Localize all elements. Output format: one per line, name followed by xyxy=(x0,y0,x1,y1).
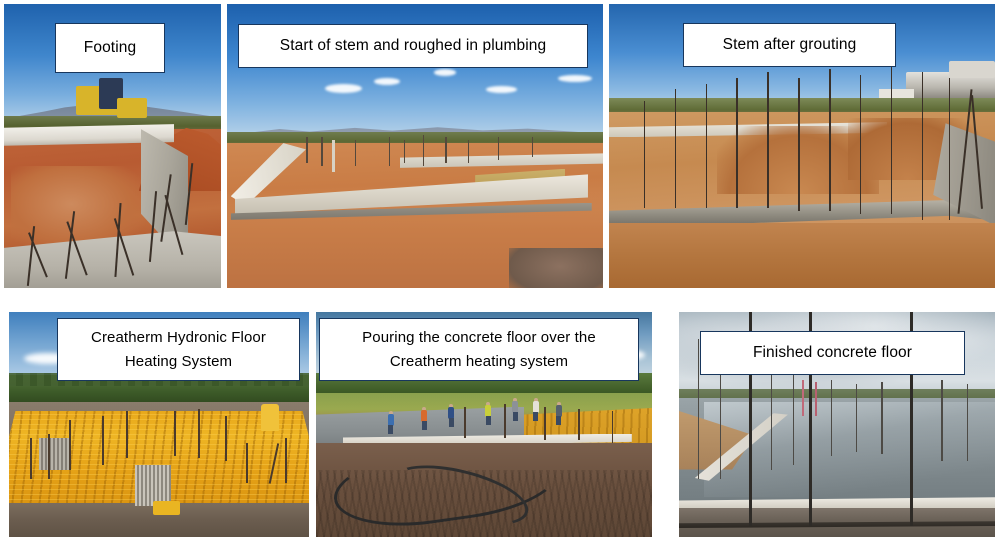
caption-stem-grouting: Stem after grouting xyxy=(683,23,896,67)
caption-creatherm: Creatherm Hydronic Floor Heating System xyxy=(57,318,300,381)
rebar-thin xyxy=(831,380,832,457)
rebar-vertical xyxy=(644,101,646,209)
worker xyxy=(447,404,455,430)
rebar-vertical xyxy=(464,407,466,439)
rebar-thin xyxy=(793,375,794,465)
rebar-vertical xyxy=(69,420,71,470)
plumbing-stub xyxy=(445,137,447,163)
worker-legs xyxy=(533,412,538,421)
plumbing-stub xyxy=(355,140,357,166)
rebar-thin xyxy=(881,382,882,454)
rebar-vertical xyxy=(612,411,614,443)
rebar-vertical xyxy=(544,407,546,441)
photo-panel-finished: Finished concrete floor xyxy=(679,312,995,537)
worker-legs xyxy=(486,416,491,425)
plumbing-stub xyxy=(532,137,534,157)
worker xyxy=(511,398,520,426)
rebar-marker xyxy=(802,380,804,416)
worker xyxy=(420,407,428,431)
plumbing-stub xyxy=(468,140,470,163)
rebar-vertical xyxy=(504,404,506,438)
rebar-marker xyxy=(815,382,817,416)
caption-stem-plumbing: Start of stem and roughed in plumbing xyxy=(238,24,588,68)
rebar-thin xyxy=(856,384,857,452)
photo-panel-pouring: Pouring the concrete floor over the Crea… xyxy=(316,312,652,537)
rebar-vertical xyxy=(246,443,248,484)
rebar-vertical xyxy=(30,438,32,479)
foreground-soil xyxy=(609,223,995,288)
caption-text: Stem after grouting xyxy=(690,34,889,56)
photo-panel-stem-grouting: Stem after grouting xyxy=(609,4,995,288)
worker xyxy=(484,402,492,428)
photo-panel-footing: Footing xyxy=(4,4,221,288)
photo-panel-stem-plumbing: Start of stem and roughed in plumbing xyxy=(227,4,603,288)
worker-legs xyxy=(513,412,518,421)
rebar-vertical xyxy=(949,78,951,220)
rebar-thin xyxy=(967,384,968,461)
plumbing-stub xyxy=(321,137,323,165)
caption-finished: Finished concrete floor xyxy=(700,331,965,375)
caption-text-line2: Heating System xyxy=(64,350,293,373)
photo-board: Footing xyxy=(0,0,1000,551)
caption-pouring: Pouring the concrete floor over the Crea… xyxy=(319,318,639,381)
rebar-vertical xyxy=(225,416,227,461)
rebar-vertical xyxy=(706,84,708,209)
caption-text-line2: Creatherm heating system xyxy=(326,350,632,373)
yellow-material-bag xyxy=(261,404,279,431)
rebar-vertical xyxy=(126,411,128,458)
rebar-vertical xyxy=(102,416,104,466)
rebar-vertical xyxy=(578,409,580,441)
worker xyxy=(387,411,395,435)
rebar-vertical xyxy=(48,434,50,479)
rebar-vertical xyxy=(736,78,738,209)
plumbing-stub xyxy=(423,135,425,166)
plumbing-stub xyxy=(306,137,308,163)
worker xyxy=(555,402,563,428)
worker-legs xyxy=(556,416,561,425)
rebar-vertical xyxy=(922,72,924,220)
rebar-vertical xyxy=(198,409,200,459)
rebar-vertical xyxy=(767,72,769,208)
pex-manifold xyxy=(39,438,69,470)
worker-legs xyxy=(449,418,454,427)
worker xyxy=(531,398,540,426)
caption-footing: Footing xyxy=(55,23,165,73)
rebar-vertical xyxy=(285,438,287,483)
caption-text-line1: Pouring the concrete floor over the xyxy=(326,326,632,349)
rebar-vertical xyxy=(174,411,176,456)
backhoe-bucket-icon xyxy=(117,98,147,118)
caption-text: Start of stem and roughed in plumbing xyxy=(245,35,581,57)
cloud xyxy=(325,84,363,93)
plumbing-stub xyxy=(332,140,334,171)
worker-legs xyxy=(388,425,393,434)
rebar-vertical xyxy=(891,66,893,214)
caption-text: Footing xyxy=(62,37,158,59)
yellow-panel-offcut xyxy=(153,501,180,515)
plumbing-stub xyxy=(389,137,391,165)
rebar-vertical xyxy=(860,75,862,214)
rebar-vertical xyxy=(675,89,677,208)
rebar-thin xyxy=(941,380,942,461)
rebar-vertical xyxy=(829,69,831,211)
worker-legs xyxy=(422,421,427,430)
rv-trailer-top xyxy=(949,61,995,78)
caption-text: Finished concrete floor xyxy=(707,342,958,364)
pex-manifold xyxy=(135,465,171,506)
rebar-thin xyxy=(771,371,772,470)
photo-panel-creatherm: Creatherm Hydronic Floor Heating System xyxy=(9,312,309,537)
caption-text-line1: Creatherm Hydronic Floor xyxy=(64,326,293,349)
plumbing-stub xyxy=(404,140,406,163)
plumbing-stub xyxy=(498,137,500,160)
rebar-vertical xyxy=(798,78,800,211)
gravel-pile xyxy=(509,248,603,288)
